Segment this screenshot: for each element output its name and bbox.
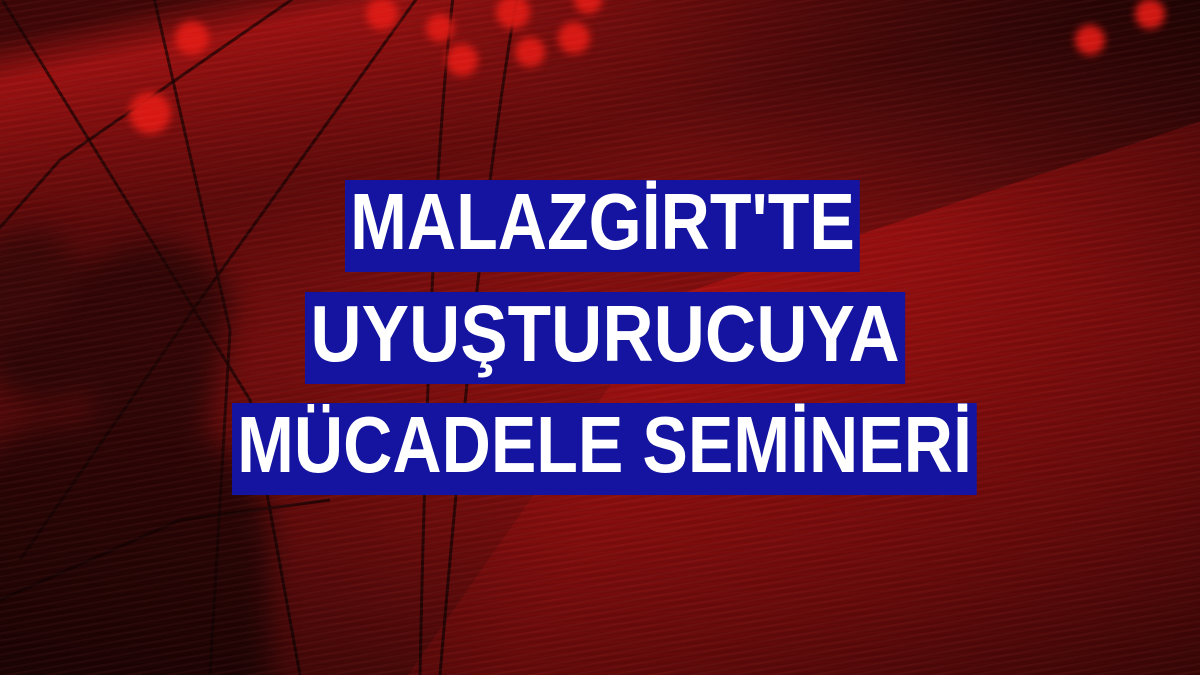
news-banner-image: MALAZGİRT'TE UYUŞTURUCUYA MÜCADELE SEMİN…: [0, 0, 1200, 675]
headline-line-3: MÜCADELE SEMİNERİ: [232, 403, 977, 495]
headline-line-2: UYUŞTURUCUYA: [305, 292, 905, 384]
headline-line-1: MALAZGİRT'TE: [345, 180, 860, 272]
headline-overlay: MALAZGİRT'TE UYUŞTURUCUYA MÜCADELE SEMİN…: [0, 0, 1200, 675]
